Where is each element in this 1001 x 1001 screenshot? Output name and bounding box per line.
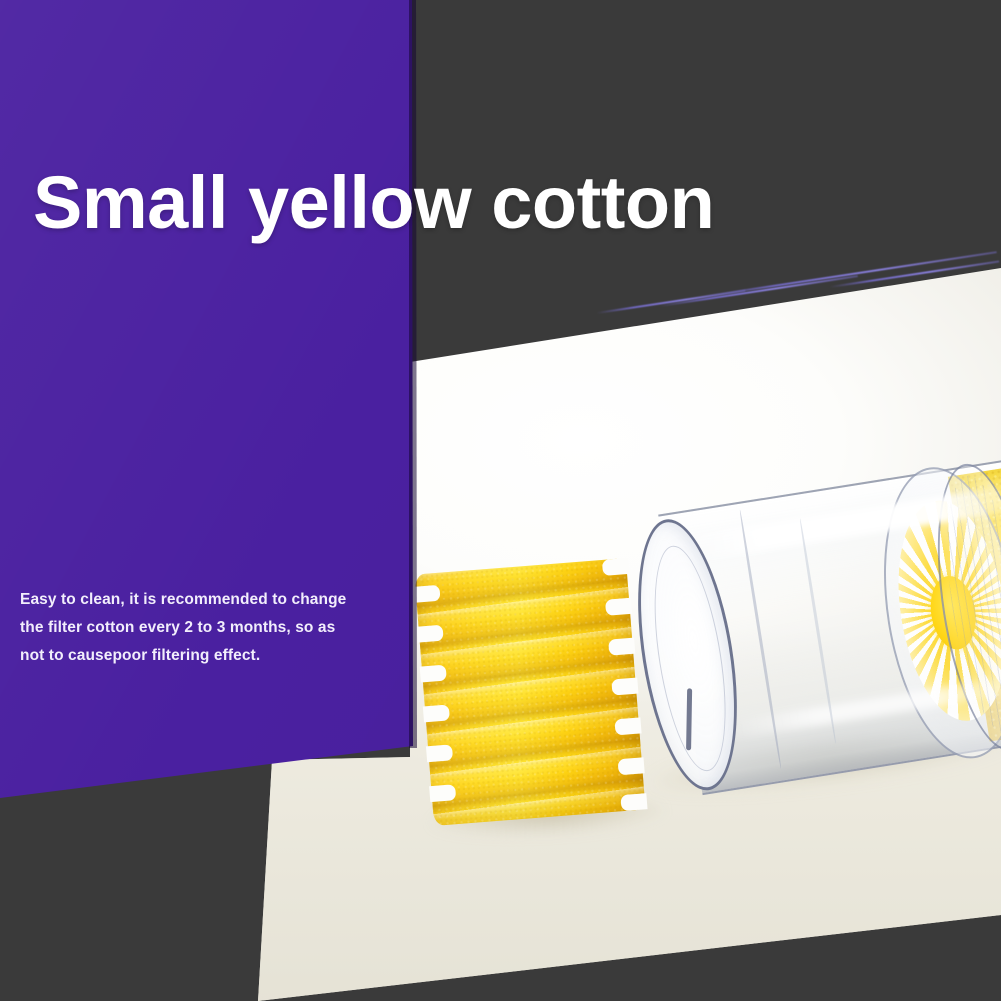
sponge-notch xyxy=(614,717,641,735)
sponge-notch xyxy=(605,598,632,616)
sponge-notch xyxy=(429,784,456,802)
yellow-sponge-filter xyxy=(414,558,645,826)
sponge-notch xyxy=(618,757,645,775)
sponge-notch xyxy=(608,638,635,656)
sponge-notch xyxy=(417,625,444,643)
sponge-notch xyxy=(620,793,647,811)
clear-filter-housing xyxy=(621,455,1001,797)
description-text: Easy to clean, it is recommended to chan… xyxy=(20,586,368,670)
product-banner: Small yellow cotton Easy to clean, it is… xyxy=(0,0,1001,1001)
description-line: the filter cotton every 2 to 3 months, s… xyxy=(20,614,368,642)
description-line: not to causepoor filtering effect. xyxy=(20,642,368,670)
sponge-notch xyxy=(426,744,453,762)
sponge-notch xyxy=(420,665,447,683)
housing-mouth-notch xyxy=(686,688,692,750)
sponge-notch xyxy=(602,558,629,576)
sponge-notch xyxy=(611,678,638,696)
description-line: Easy to clean, it is recommended to chan… xyxy=(20,586,368,614)
page-title: Small yellow cotton xyxy=(33,166,714,240)
sponge-notch xyxy=(423,704,450,722)
sponge-notch xyxy=(413,585,440,603)
